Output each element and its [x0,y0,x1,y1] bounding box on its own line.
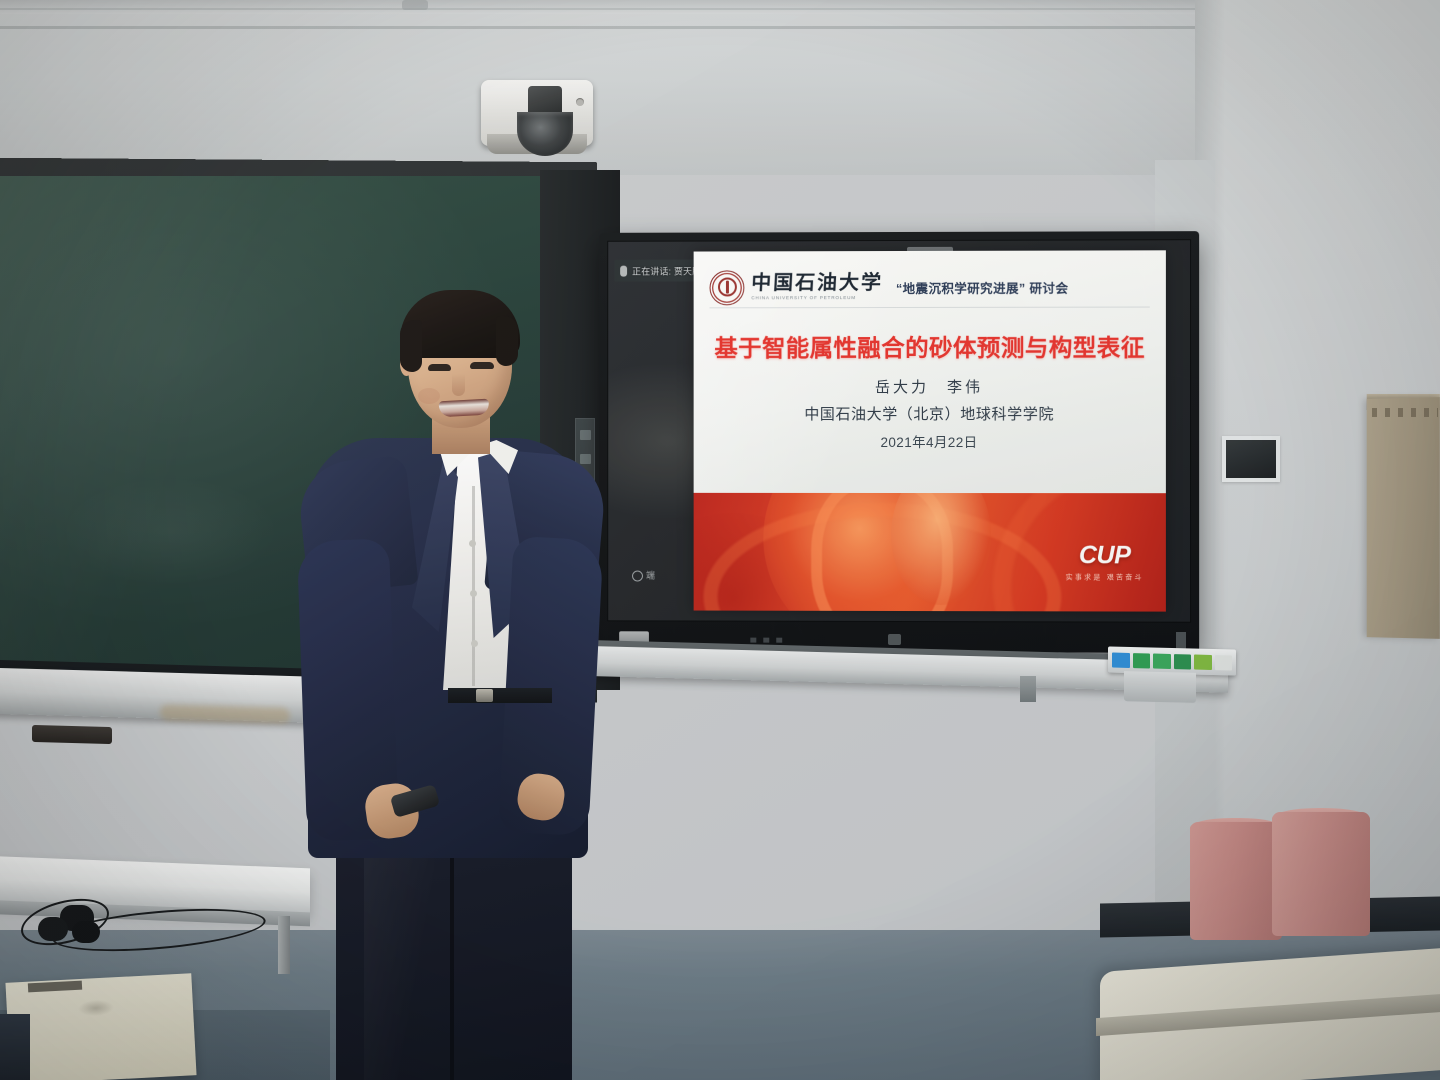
shirt-button [470,590,477,597]
classroom-photo: 正在讲话: 贾天鹏 李虎 中国石油大学 CHINA UNIVERSITY OF … [0,0,1440,1080]
university-name-en: CHINA UNIVERSITY OF PETROLEUM [751,296,883,301]
blackboard-eraser [32,725,112,744]
presenter [300,290,600,1080]
interactive-display[interactable]: 正在讲话: 贾天鹏 李虎 中国石油大学 CHINA UNIVERSITY OF … [599,231,1199,653]
presenter-eye-right [470,362,494,369]
presenter-eye-left [428,364,451,371]
cup-logo-tagline: 实事求是 艰苦奋斗 [1066,572,1144,582]
presentation-slide: 中国石油大学 CHINA UNIVERSITY OF PETROLEUM “地震… [694,250,1166,611]
control-panel-housing [1124,671,1196,703]
cable-bundle [38,917,68,941]
control-button-volume-up[interactable] [1153,653,1171,668]
waste-bin [1190,822,1282,940]
slide-affiliation: 中国石油大学（北京）地球科学学院 [704,403,1156,424]
coiled-cable [12,895,262,949]
cable-bundle [72,921,100,943]
ceiling-fixture [402,0,428,10]
conference-name: “地震沉积学研究进展” 研讨会 [896,277,1068,296]
trouser-highlight [364,850,434,1080]
control-button-power[interactable] [1112,652,1130,667]
microphone-icon [620,265,627,276]
display-screen[interactable]: 正在讲话: 贾天鹏 李虎 中国石油大学 CHINA UNIVERSITY OF … [608,240,1190,622]
wall-speaker-panel [1222,436,1280,482]
presenter-hair-left [400,320,422,372]
display-sensor-icon [888,634,901,645]
university-wordmark: 中国石油大学 CHINA UNIVERSITY OF PETROLEUM [751,273,883,301]
presenter-belt [448,688,552,703]
slide-authors: 岳大力 李伟 [704,376,1156,397]
shirt-placket [472,486,475,686]
camera-screw [576,98,584,106]
side-table-leg [278,916,290,974]
chalk-smudge [60,476,280,586]
slide-header: 中国石油大学 CHINA UNIVERSITY OF PETROLEUM “地震… [710,266,1156,307]
slide-title: 基于智能属性融合的砂体预测与构型表征 [704,329,1156,364]
projection-screen-clips [1372,408,1438,417]
control-button-menu[interactable] [1194,654,1212,669]
cup-logo: CUP 实事求是 艰苦奋斗 [1066,541,1144,582]
belt-buckle [476,689,493,702]
slide-date: 2021年4月22日 [704,431,1156,451]
floor-box [0,1014,30,1080]
waste-bin [1272,812,1370,936]
shirt-button [469,540,476,547]
rolled-projection-screen [1367,397,1440,639]
presenter-nose [452,374,465,396]
slide-artwork-band: CUP 实事求是 艰苦奋斗 [694,493,1166,612]
display-port-row[interactable] [750,638,788,643]
shirt-button [471,640,478,647]
control-button-volume-down[interactable] [1174,654,1192,669]
bottom-left-label: 端 [646,569,655,582]
cup-logo-word: CUP [1066,541,1144,570]
university-seal-icon [710,270,745,305]
circle-icon[interactable] [632,571,643,582]
presenter-cheek [418,388,440,404]
dome-security-camera [481,76,593,160]
chalk-dust-stain [160,704,290,723]
control-button-blank[interactable] [1215,655,1233,670]
control-button-input[interactable] [1133,653,1151,668]
university-name-cn: 中国石油大学 [751,273,884,293]
rail-bracket [1020,676,1036,702]
presenter-hair-right [496,316,518,366]
